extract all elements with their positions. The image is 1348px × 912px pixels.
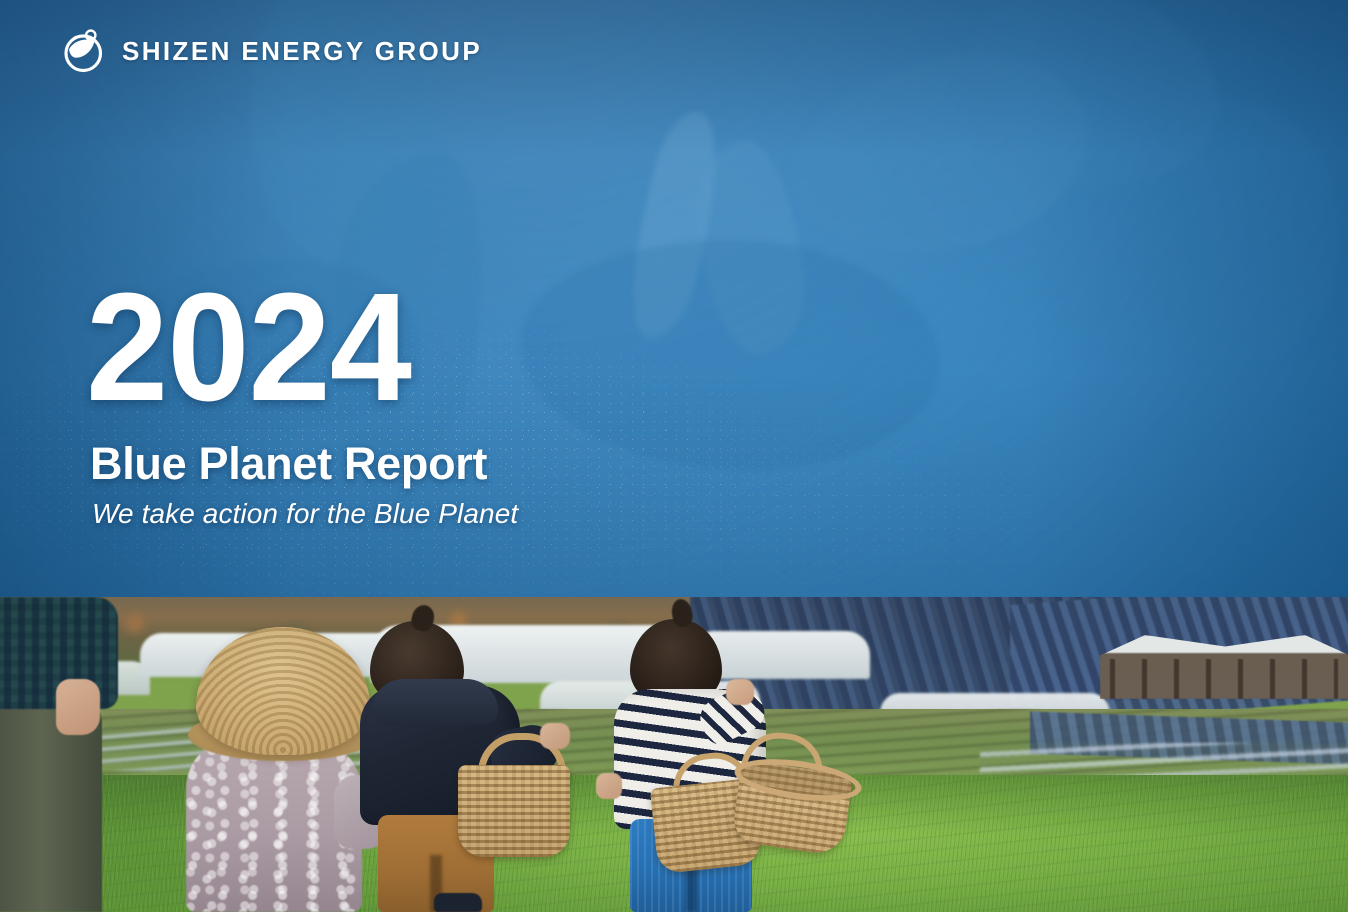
report-cover: SHIZEN ENERGY GROUP 2024 Blue Planet Rep…	[0, 0, 1348, 912]
brand-name: SHIZEN ENERGY GROUP	[122, 38, 482, 64]
brand-lockup: SHIZEN ENERGY GROUP	[60, 27, 482, 75]
adult-hand	[56, 679, 100, 735]
report-tagline: We take action for the Blue Planet	[92, 500, 518, 528]
report-year: 2024	[86, 286, 501, 409]
woven-basket	[458, 765, 570, 857]
barn-support-posts	[1110, 659, 1338, 699]
child-three-hand	[726, 679, 754, 705]
child-three-left-hand	[596, 773, 622, 799]
report-title: Blue Planet Report	[90, 441, 518, 486]
children-walking-farm-photo	[0, 597, 1348, 912]
child-two-hand	[540, 723, 570, 749]
child-two-shoe	[434, 893, 482, 912]
title-block: 2024 Blue Planet Report We take action f…	[86, 286, 518, 528]
jacket-hood	[372, 679, 498, 725]
shizen-leaf-circle-icon	[60, 27, 108, 75]
